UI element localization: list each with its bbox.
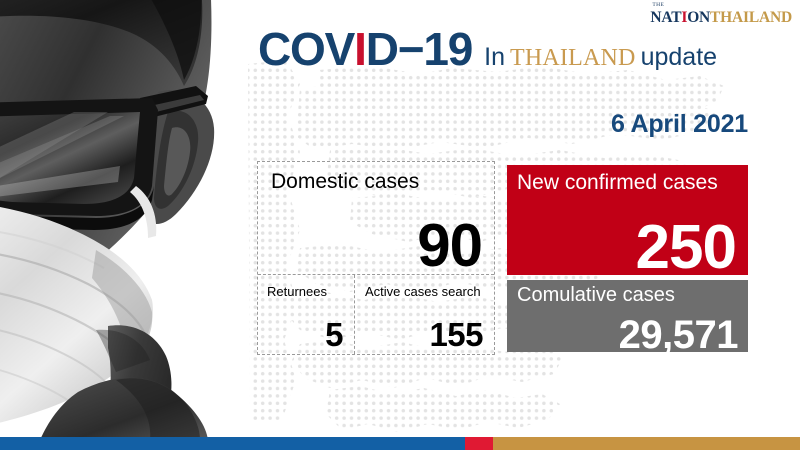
headline-covid-pre: COV: [258, 23, 354, 75]
active-cases-search-value: 155: [429, 318, 483, 351]
domestic-cases-cell: Domestic cases 90: [258, 162, 494, 275]
new-confirmed-cases-panel: New confirmed cases 250: [507, 165, 748, 275]
footer-bar-gold-segment: [493, 437, 800, 450]
domestic-stats-panel: Domestic cases 90 Returnees 5 Active cas…: [257, 161, 495, 355]
headline-covid-red-i: I: [354, 23, 366, 75]
report-date: 6 April 2021: [611, 110, 748, 139]
domestic-cases-value: 90: [417, 216, 482, 276]
new-confirmed-cases-value: 250: [636, 217, 736, 279]
active-cases-search-cell: Active cases search 155: [356, 275, 494, 354]
returnees-label: Returnees: [267, 284, 327, 299]
cumulative-cases-label: Comulative cases: [517, 284, 675, 307]
active-cases-search-label: Active cases search: [365, 284, 481, 299]
logo-nation-post: ON: [687, 9, 710, 26]
masked-person-portrait: [0, 0, 270, 440]
domestic-cases-label: Domestic cases: [271, 170, 419, 194]
page-title: COVID−19InTHAILANDupdate: [258, 26, 717, 72]
footer-bar-blue-segment: [0, 437, 465, 450]
footer-color-bar: [0, 437, 800, 450]
headline-thailand-word: THAILAND: [510, 45, 636, 71]
cumulative-cases-value: 29,571: [619, 315, 738, 355]
infographic-canvas: THE NATIONTHAILAND COVID−19InTHAILANDupd…: [0, 0, 800, 450]
nation-thailand-logo[interactable]: THE NATIONTHAILAND: [650, 3, 792, 26]
cumulative-cases-panel: Comulative cases 29,571: [507, 280, 748, 352]
logo-nation-text: NATION: [650, 9, 710, 26]
returnees-cell: Returnees 5: [258, 275, 355, 354]
footer-bar-red-segment: [465, 437, 493, 450]
logo-thailand-text: THAILAND: [710, 9, 792, 26]
logo-nation-pre: NAT: [650, 9, 681, 26]
headline-in-word: In: [484, 43, 505, 71]
returnees-value: 5: [325, 318, 343, 351]
headline-covid19: COVID−19: [258, 23, 472, 75]
new-confirmed-cases-label: New confirmed cases: [517, 171, 718, 195]
headline-update-word: update: [641, 43, 717, 71]
headline-covid-post: D−19: [366, 23, 472, 75]
